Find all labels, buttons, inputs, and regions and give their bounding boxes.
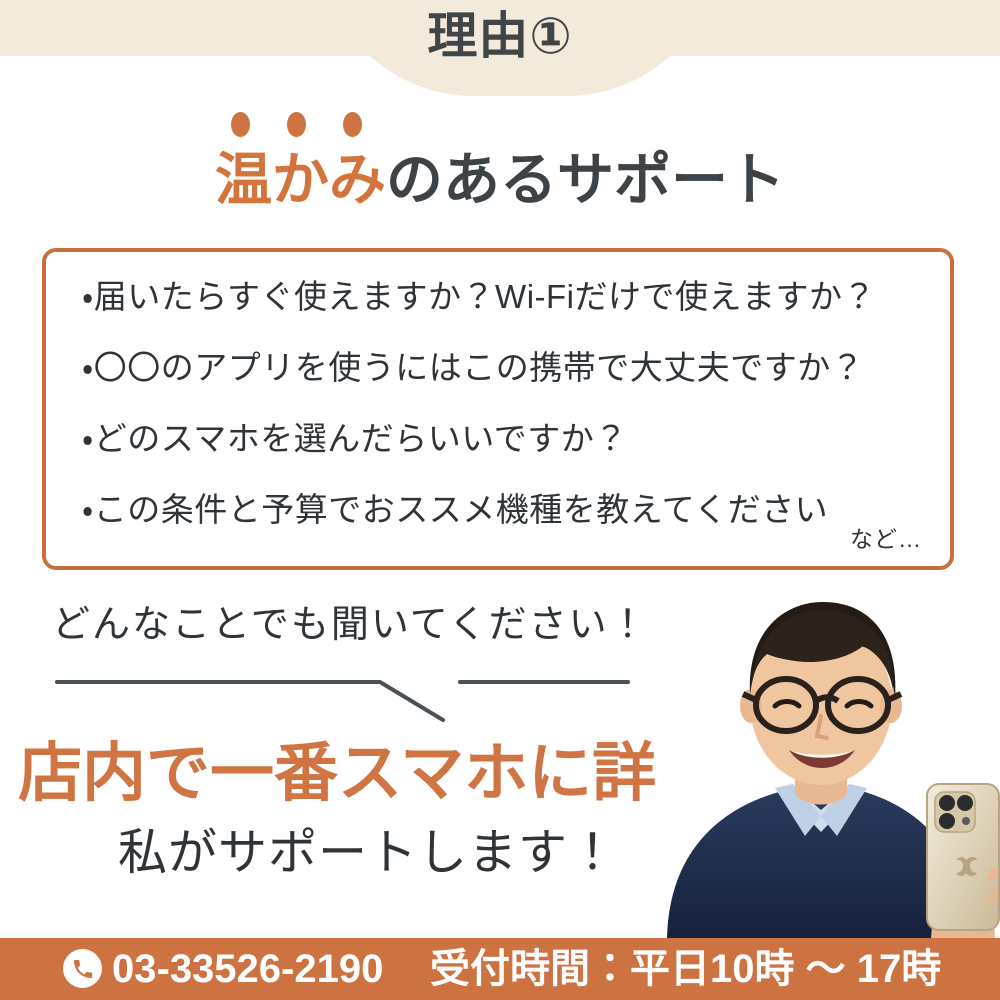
footer-business-hours: 受付時間：平日10時 〜 17時	[430, 941, 941, 997]
staff-photo	[655, 588, 1000, 938]
emphasis-dots	[0, 112, 1000, 138]
question-list: ・届いたらすぐ使えますか？Wi-Fiだけで使えますか？ ・〇〇のアプリを使うには…	[82, 274, 932, 532]
emphasis-dot	[231, 112, 250, 137]
emphasis-dot	[343, 112, 362, 137]
poster-root: 理由① 温かみのあるサポート ・届いたらすぐ使えますか？Wi-Fiだけで使えます…	[0, 0, 1000, 1000]
question-box: ・届いたらすぐ使えますか？Wi-Fiだけで使えますか？ ・〇〇のアプリを使うには…	[42, 248, 954, 570]
invite-text: どんなことでも聞いてください！	[52, 600, 649, 650]
emphasis-dot	[287, 112, 306, 137]
trailing-note: など…	[850, 520, 922, 554]
list-item: ・どのスマホを選んだらいいですか？	[82, 416, 932, 461]
section-subtitle: 温かみのあるサポート	[0, 144, 1000, 216]
subtitle-highlight: 温かみ	[215, 148, 386, 212]
header-badge-title: 理由①	[0, 9, 1000, 63]
headline-subline: 私がサポートします！	[118, 822, 618, 884]
footer-phone-number[interactable]: 03-33526-2190	[112, 941, 383, 997]
list-item: ・〇〇のアプリを使うにはこの携帯で大丈夫ですか？	[82, 345, 932, 390]
list-item: ・この条件と予算でおススメ機種を教えてください	[82, 487, 932, 532]
list-item: ・届いたらすぐ使えますか？Wi-Fiだけで使えますか？	[82, 274, 932, 319]
speech-bubble-tail-icon	[40, 660, 660, 730]
contact-footer: 03-33526-2190 受付時間：平日10時 〜 17時	[0, 938, 1000, 1000]
subtitle-rest: のあるサポート	[386, 148, 785, 212]
phone-icon	[63, 949, 102, 988]
